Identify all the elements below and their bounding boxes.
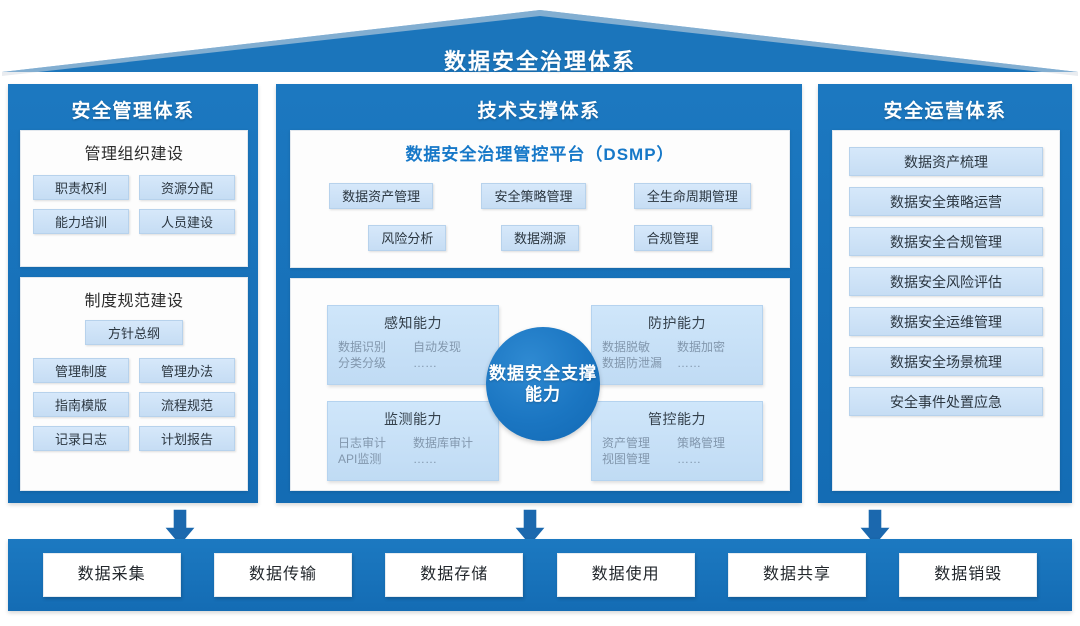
quad-item: 数据防泄漏 [602,355,677,371]
quad-item: 数据库审计 [413,435,488,451]
data-lifecycle-bar: 数据采集 数据传输 数据存储 数据使用 数据共享 数据销毁 [8,539,1072,611]
chip-data-asset-inventory[interactable]: 数据资产梳理 [849,147,1043,176]
chip-compliance-management[interactable]: 合规管理 [634,225,712,251]
lifecycle-stage-destroy[interactable]: 数据销毁 [899,553,1037,597]
quad-item: API监测 [338,451,413,467]
chip-security-policy-operation[interactable]: 数据安全策略运营 [849,187,1043,216]
chip-guideline-template[interactable]: 指南模版 [33,392,129,417]
card-dsmp-platform: 数据安全治理管控平台（DSMP） 数据资产管理 安全策略管理 全生命周期管理 风… [290,130,790,268]
quadrant-sensing-title: 感知能力 [328,306,498,333]
quadrant-monitoring-items: 日志审计 数据库审计 API监测 …… [328,429,498,467]
card-management-org-chips: 职责权利 资源分配 能力培训 人员建设 [33,175,235,234]
chip-incident-response[interactable]: 安全事件处置应急 [849,387,1043,416]
quadrant-control-title: 管控能力 [592,402,762,429]
pillar-security-management[interactable]: 安全管理体系 管理组织建设 职责权利 资源分配 能力培训 人员建设 制度规范建设… [8,84,258,503]
quad-item: 资产管理 [602,435,677,451]
pillar-mid-header: 技术支撑体系 [276,96,802,123]
quadrant-control-items: 资产管理 策略管理 视图管理 …… [592,429,762,467]
chip-risk-analysis[interactable]: 风险分析 [368,225,446,251]
card-dsmp-title: 数据安全治理管控平台（DSMP） [291,131,789,165]
quadrant-protection-items: 数据脱敏 数据加密 数据防泄漏 …… [592,333,762,371]
quadrant-sensing-items: 数据识别 自动发现 分类分级 …… [328,333,498,371]
chip-data-asset-management[interactable]: 数据资产管理 [329,183,433,209]
card-management-org-title: 管理组织建设 [21,131,247,164]
quad-item: …… [677,451,752,467]
chip-record-log[interactable]: 记录日志 [33,426,129,451]
chip-security-compliance-management[interactable]: 数据安全合规管理 [849,227,1043,256]
diagram-canvas: 数据安全治理体系 安全管理体系 管理组织建设 职责权利 资源分配 能力培训 人员… [0,0,1080,626]
dsmp-chip-row-1: 数据资产管理 安全策略管理 全生命周期管理 [305,183,775,209]
quad-item: 视图管理 [602,451,677,467]
chip-plan-report[interactable]: 计划报告 [139,426,235,451]
lifecycle-stage-use[interactable]: 数据使用 [557,553,695,597]
chip-security-risk-assessment[interactable]: 数据安全风险评估 [849,267,1043,296]
roof-title: 数据安全治理体系 [0,44,1080,76]
card-policy-standards-chips: 管理制度 管理办法 指南模版 流程规范 记录日志 计划报告 [33,358,235,451]
chip-data-lineage[interactable]: 数据溯源 [501,225,579,251]
lifecycle-stage-collect[interactable]: 数据采集 [43,553,181,597]
quadrant-control-capability[interactable]: 管控能力 资产管理 策略管理 视图管理 …… [591,401,763,481]
chip-security-policy-management[interactable]: 安全策略管理 [481,183,585,209]
roof-banner: 数据安全治理体系 [0,8,1080,76]
chip-management-system[interactable]: 管理制度 [33,358,129,383]
quad-item: 数据脱敏 [602,339,677,355]
card-policy-lead-chip-row: 方针总纲 [33,320,235,345]
quadrant-monitoring-capability[interactable]: 监测能力 日志审计 数据库审计 API监测 …… [327,401,499,481]
chip-resource-allocation[interactable]: 资源分配 [139,175,235,200]
chip-security-scenario-inventory[interactable]: 数据安全场景梳理 [849,347,1043,376]
pillar-technical-support[interactable]: 技术支撑体系 数据安全治理管控平台（DSMP） 数据资产管理 安全策略管理 全生… [276,84,802,503]
card-management-org: 管理组织建设 职责权利 资源分配 能力培训 人员建设 [20,130,248,267]
pillar-security-operations[interactable]: 安全运营体系 数据资产梳理 数据安全策略运营 数据安全合规管理 数据安全风险评估… [818,84,1072,503]
quad-item: 数据加密 [677,339,752,355]
quad-item: 数据识别 [338,339,413,355]
quad-item: 自动发现 [413,339,488,355]
lifecycle-stage-share[interactable]: 数据共享 [728,553,866,597]
lifecycle-stage-transmit[interactable]: 数据传输 [214,553,352,597]
card-policy-standards-title: 制度规范建设 [21,278,247,311]
quad-item: 策略管理 [677,435,752,451]
lifecycle-stage-store[interactable]: 数据存储 [385,553,523,597]
quad-item: …… [677,355,752,371]
pillar-left-header: 安全管理体系 [8,96,258,123]
operations-chip-stack: 数据资产梳理 数据安全策略运营 数据安全合规管理 数据安全风险评估 数据安全运维… [849,147,1043,416]
quad-item: …… [413,451,488,467]
chip-lifecycle-management[interactable]: 全生命周期管理 [634,183,751,209]
chip-personnel-building[interactable]: 人员建设 [139,209,235,234]
quadrant-protection-title: 防护能力 [592,306,762,333]
pillar-right-header: 安全运营体系 [818,96,1072,123]
chip-management-measures[interactable]: 管理办法 [139,358,235,383]
capability-hub-circle: 数据安全支撑能力 [486,327,600,441]
card-support-capability: 感知能力 数据识别 自动发现 分类分级 …… 防护能力 数据脱敏 数据加密 数据… [290,278,790,491]
card-operations-list: 数据资产梳理 数据安全策略运营 数据安全合规管理 数据安全风险评估 数据安全运维… [832,130,1060,491]
chip-security-ops-management[interactable]: 数据安全运维管理 [849,307,1043,336]
quadrant-monitoring-title: 监测能力 [328,402,498,429]
quad-item: 日志审计 [338,435,413,451]
quad-item: …… [413,355,488,371]
card-policy-standards: 制度规范建设 方针总纲 管理制度 管理办法 指南模版 流程规范 记录日志 计划报… [20,277,248,491]
quadrant-sensing-capability[interactable]: 感知能力 数据识别 自动发现 分类分级 …… [327,305,499,385]
chip-capability-training[interactable]: 能力培训 [33,209,129,234]
chip-process-spec[interactable]: 流程规范 [139,392,235,417]
dsmp-chip-row-2: 风险分析 数据溯源 合规管理 [341,225,739,251]
quadrant-protection-capability[interactable]: 防护能力 数据脱敏 数据加密 数据防泄漏 …… [591,305,763,385]
chip-policy-outline[interactable]: 方针总纲 [85,320,183,345]
quad-item: 分类分级 [338,355,413,371]
chip-duty-rights[interactable]: 职责权利 [33,175,129,200]
